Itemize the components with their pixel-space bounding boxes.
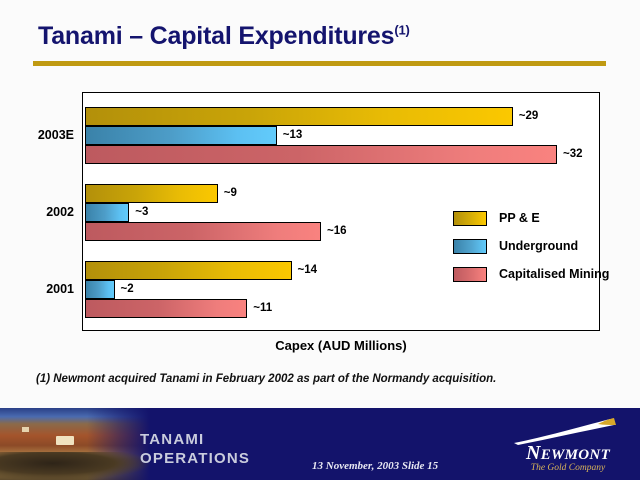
bar-2001-capitalised-mining xyxy=(85,299,247,318)
bar-value-label: ~9 xyxy=(224,184,237,203)
legend-swatch-icon xyxy=(453,211,487,226)
haul-truck-shape xyxy=(56,436,74,445)
page-title-superscript: (1) xyxy=(394,23,409,38)
newmont-wordmark-n: N xyxy=(526,442,541,464)
bar-value-label: ~14 xyxy=(298,261,318,280)
legend-swatch-icon xyxy=(453,239,487,254)
category-label-2002: 2002 xyxy=(8,205,74,219)
mine-site-photo xyxy=(0,408,150,480)
bar-value-label: ~11 xyxy=(253,299,272,318)
bar-value-label: ~13 xyxy=(283,126,303,145)
bar-2002-underground xyxy=(85,203,129,222)
footer-brand-line1: TANAMI xyxy=(140,430,250,449)
bar-value-label: ~32 xyxy=(563,145,583,164)
newmont-logo: NEWMONT The Gold Company xyxy=(506,418,630,476)
bar-2001-underground xyxy=(85,280,115,299)
bar-value-label: ~16 xyxy=(327,222,347,241)
newmont-tagline: The Gold Company xyxy=(506,463,630,473)
bar-2002-capitalised-mining xyxy=(85,222,321,241)
bar-value-label: ~3 xyxy=(135,203,148,222)
category-label-2003e: 2003E xyxy=(8,128,74,142)
footnote: (1) Newmont acquired Tanami in February … xyxy=(36,373,496,385)
slide-footer: TANAMI OPERATIONS 13 November, 2003 Slid… xyxy=(0,408,640,480)
bar-2001-pp-e xyxy=(85,261,292,280)
newmont-wordmark-rest: EWMONT xyxy=(541,447,610,463)
bar-2002-pp-e xyxy=(85,184,218,203)
newmont-wordmark: NEWMONT xyxy=(506,442,630,465)
page-title: Tanami – Capital Expenditures(1) xyxy=(38,22,410,51)
legend-label: PP & E xyxy=(499,208,540,229)
bar-2003e-underground xyxy=(85,126,277,145)
footer-date-slide: 13 November, 2003 Slide 15 xyxy=(312,460,438,472)
title-underline-rule xyxy=(33,61,606,66)
category-label-2001: 2001 xyxy=(8,282,74,296)
bar-2003e-capitalised-mining xyxy=(85,145,557,164)
legend-label: Underground xyxy=(499,236,578,257)
distant-equipment-shape xyxy=(22,427,29,432)
footer-brand: TANAMI OPERATIONS xyxy=(140,430,250,468)
bar-value-label: ~29 xyxy=(519,107,539,126)
bar-value-label: ~2 xyxy=(121,280,134,299)
legend-label: Capitalised Mining xyxy=(499,264,609,285)
x-axis-title: Capex (AUD Millions) xyxy=(82,338,600,353)
page-title-text: Tanami – Capital Expenditures xyxy=(38,22,394,50)
footer-brand-line2: OPERATIONS xyxy=(140,449,250,468)
bar-2003e-pp-e xyxy=(85,107,513,126)
title-block: Tanami – Capital Expenditures(1) xyxy=(0,0,640,72)
legend-swatch-icon xyxy=(453,267,487,282)
rock-ridge-shape xyxy=(0,452,150,480)
